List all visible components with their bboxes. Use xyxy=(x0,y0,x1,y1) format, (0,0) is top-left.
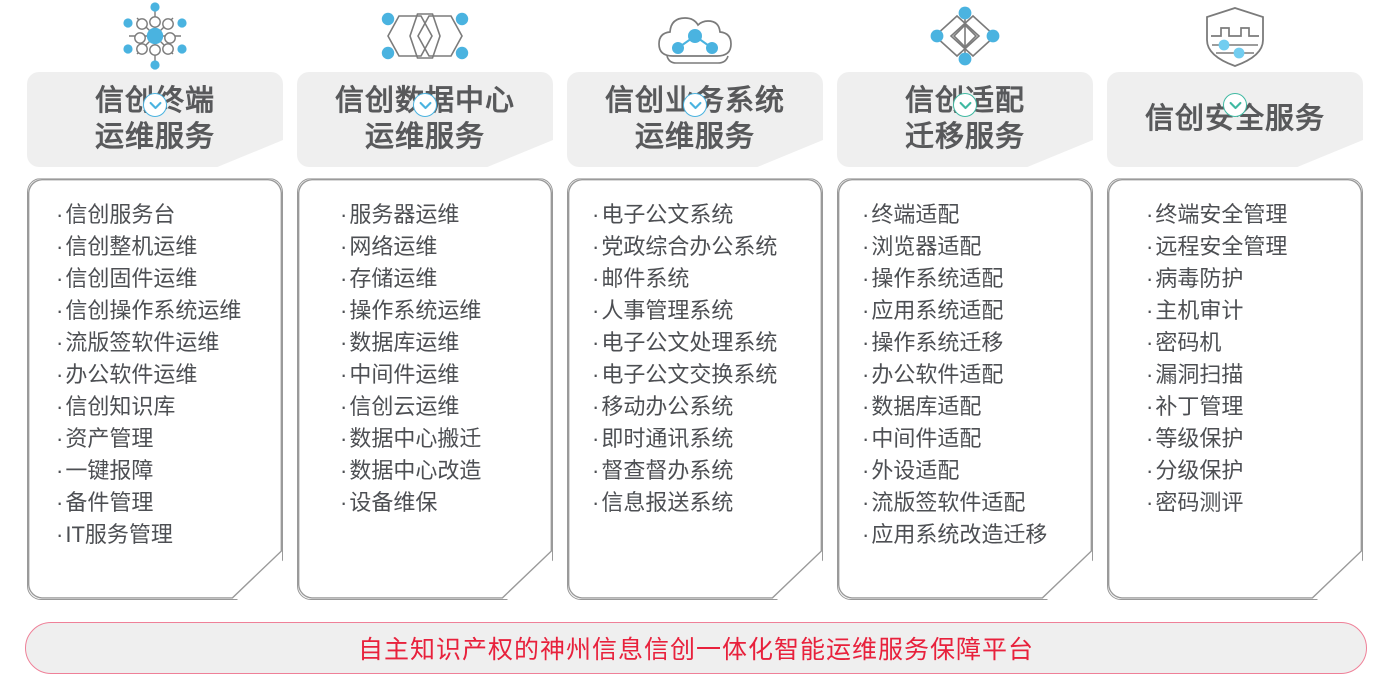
list-item-label: 人事管理系统 xyxy=(601,298,733,323)
list-item[interactable]: ·数据中心改造 xyxy=(336,455,481,487)
chevron-down-icon[interactable] xyxy=(953,93,977,117)
bullet-glyph: · xyxy=(862,522,869,547)
list-item-label: 党政综合办公系统 xyxy=(601,234,777,259)
list-item[interactable]: ·党政综合办公系统 xyxy=(588,231,777,263)
column-header-plate[interactable]: 信创业务系统 运维服务 xyxy=(567,72,823,167)
list-item-label: 应用系统改造迁移 xyxy=(871,522,1047,547)
list-item-label: 流版签软件适配 xyxy=(871,490,1025,515)
bullet-glyph: · xyxy=(340,362,347,387)
bullet-glyph: · xyxy=(56,330,63,355)
list-item-label: 邮件系统 xyxy=(601,266,689,291)
list-item[interactable]: ·漏洞扫描 xyxy=(1142,359,1243,391)
list-item-label: 终端适配 xyxy=(871,202,959,227)
list-item[interactable]: ·电子公文系统 xyxy=(588,199,733,231)
bullet-glyph: · xyxy=(56,298,63,323)
service-list-card: ·服务器运维·网络运维·存储运维·操作系统运维·数据库运维·中间件运维·信创云运… xyxy=(297,178,553,600)
bullet-glyph: · xyxy=(1146,298,1153,323)
list-item-label: 流版签软件运维 xyxy=(65,330,219,355)
bullet-glyph: · xyxy=(862,394,869,419)
bullet-glyph: · xyxy=(592,458,599,483)
list-item-label: 密码测评 xyxy=(1155,490,1243,515)
list-item[interactable]: ·应用系统改造迁移 xyxy=(858,519,1047,551)
list-item-label: 操作系统适配 xyxy=(871,266,1003,291)
bullet-glyph: · xyxy=(56,362,63,387)
bullet-glyph: · xyxy=(592,362,599,387)
list-item[interactable]: ·办公软件运维 xyxy=(52,359,197,391)
cloud-network-icon xyxy=(565,0,825,72)
service-list: ·终端安全管理·远程安全管理·病毒防护·主机审计·密码机·漏洞扫描·补丁管理·等… xyxy=(1108,195,1362,519)
list-item-label: 信创固件运维 xyxy=(65,266,197,291)
bullet-glyph: · xyxy=(592,330,599,355)
list-item[interactable]: ·中间件运维 xyxy=(336,359,459,391)
list-item[interactable]: ·主机审计 xyxy=(1142,295,1243,327)
list-item-label: 终端安全管理 xyxy=(1155,202,1287,227)
bullet-glyph: · xyxy=(340,394,347,419)
list-item[interactable]: ·数据库运维 xyxy=(336,327,459,359)
list-item-label: 即时通讯系统 xyxy=(601,426,733,451)
bullet-glyph: · xyxy=(862,234,869,259)
chevron-down-icon[interactable] xyxy=(683,93,707,117)
service-list: ·信创服务台·信创整机运维·信创固件运维·信创操作系统运维·流版签软件运维·办公… xyxy=(28,195,282,551)
list-item[interactable]: ·浏览器适配 xyxy=(858,231,981,263)
network-hub-icon xyxy=(25,0,285,72)
bullet-glyph: · xyxy=(862,490,869,515)
column-header-plate[interactable]: 信创数据中心 运维服务 xyxy=(297,72,553,167)
bullet-glyph: · xyxy=(862,266,869,291)
bullet-glyph: · xyxy=(56,458,63,483)
list-item[interactable]: ·办公软件适配 xyxy=(858,359,1003,391)
list-item-label: 电子公文系统 xyxy=(601,202,733,227)
list-item-label: 中间件适配 xyxy=(871,426,981,451)
list-item[interactable]: ·数据中心搬迁 xyxy=(336,423,481,455)
bullet-glyph: · xyxy=(1146,234,1153,259)
platform-banner: 自主知识产权的神州信息信创一体化智能运维服务保障平台 xyxy=(25,622,1367,674)
list-item-label: 电子公文处理系统 xyxy=(601,330,777,355)
bullet-glyph: · xyxy=(592,394,599,419)
list-item-label: 操作系统运维 xyxy=(349,298,481,323)
list-item[interactable]: ·信创固件运维 xyxy=(52,263,197,295)
bullet-glyph: · xyxy=(1146,394,1153,419)
service-column: 信创终端 运维服务·信创服务台·信创整机运维·信创固件运维·信创操作系统运维·流… xyxy=(25,0,285,600)
bullet-glyph: · xyxy=(592,490,599,515)
bullet-glyph: · xyxy=(592,426,599,451)
list-item-label: 资产管理 xyxy=(65,426,153,451)
list-item-label: 外设适配 xyxy=(871,458,959,483)
bullet-glyph: · xyxy=(862,426,869,451)
list-item-label: 病毒防护 xyxy=(1155,266,1243,291)
list-item[interactable]: ·终端安全管理 xyxy=(1142,199,1287,231)
bullet-glyph: · xyxy=(1146,490,1153,515)
list-item[interactable]: ·中间件适配 xyxy=(858,423,981,455)
list-item-label: 信创服务台 xyxy=(65,202,175,227)
list-item[interactable]: ·网络运维 xyxy=(336,231,437,263)
list-item-label: 办公软件适配 xyxy=(871,362,1003,387)
list-item-label: 应用系统适配 xyxy=(871,298,1003,323)
list-item-label: 服务器运维 xyxy=(349,202,459,227)
bullet-glyph: · xyxy=(592,202,599,227)
list-item[interactable]: ·应用系统适配 xyxy=(858,295,1003,327)
service-columns: 信创终端 运维服务·信创服务台·信创整机运维·信创固件运维·信创操作系统运维·流… xyxy=(0,0,1392,600)
list-item-label: 中间件运维 xyxy=(349,362,459,387)
service-list: ·电子公文系统·党政综合办公系统·邮件系统·人事管理系统·电子公文处理系统·电子… xyxy=(568,195,822,519)
list-item[interactable]: ·操作系统迁移 xyxy=(858,327,1003,359)
list-item-label: 电子公文交换系统 xyxy=(601,362,777,387)
list-item[interactable]: ·信创操作系统运维 xyxy=(52,295,241,327)
infographic-canvas: 信创终端 运维服务·信创服务台·信创整机运维·信创固件运维·信创操作系统运维·流… xyxy=(0,0,1392,692)
list-item-label: 补丁管理 xyxy=(1155,394,1243,419)
column-header-plate[interactable]: 信创安全服务 xyxy=(1107,72,1363,167)
list-item[interactable]: ·IT服务管理 xyxy=(52,519,173,551)
list-item[interactable]: ·密码机 xyxy=(1142,327,1221,359)
list-item[interactable]: ·人事管理系统 xyxy=(588,295,733,327)
chevron-down-icon[interactable] xyxy=(413,93,437,117)
list-item[interactable]: ·信息报送系统 xyxy=(588,487,733,519)
bullet-glyph: · xyxy=(56,490,63,515)
list-item[interactable]: ·备件管理 xyxy=(52,487,153,519)
bullet-glyph: · xyxy=(340,426,347,451)
list-item-label: 一键报障 xyxy=(65,458,153,483)
list-item[interactable]: ·信创知识库 xyxy=(52,391,175,423)
service-list: ·终端适配·浏览器适配·操作系统适配·应用系统适配·操作系统迁移·办公软件适配·… xyxy=(838,195,1092,551)
column-header-plate[interactable]: 信创终端 运维服务 xyxy=(27,72,283,167)
service-list-card: ·电子公文系统·党政综合办公系统·邮件系统·人事管理系统·电子公文处理系统·电子… xyxy=(567,178,823,600)
service-column: 信创适配 迁移服务·终端适配·浏览器适配·操作系统适配·应用系统适配·操作系统迁… xyxy=(835,0,1095,600)
list-item[interactable]: ·操作系统运维 xyxy=(336,295,481,327)
service-list-card: ·终端适配·浏览器适配·操作系统适配·应用系统适配·操作系统迁移·办公软件适配·… xyxy=(837,178,1093,600)
list-item[interactable]: ·外设适配 xyxy=(858,455,959,487)
list-item[interactable]: ·远程安全管理 xyxy=(1142,231,1287,263)
bullet-glyph: · xyxy=(56,266,63,291)
list-item-label: 办公软件运维 xyxy=(65,362,197,387)
bullet-glyph: · xyxy=(340,266,347,291)
bullet-glyph: · xyxy=(56,426,63,451)
bullet-glyph: · xyxy=(56,522,63,547)
list-item-label: 备件管理 xyxy=(65,490,153,515)
bullet-glyph: · xyxy=(862,330,869,355)
list-item[interactable]: ·移动办公系统 xyxy=(588,391,733,423)
service-list-card: ·信创服务台·信创整机运维·信创固件运维·信创操作系统运维·流版签软件运维·办公… xyxy=(27,178,283,600)
list-item-label: 信创知识库 xyxy=(65,394,175,419)
bullet-glyph: · xyxy=(592,298,599,323)
list-item[interactable]: ·服务器运维 xyxy=(336,199,459,231)
bullet-glyph: · xyxy=(862,458,869,483)
service-list-card: ·终端安全管理·远程安全管理·病毒防护·主机审计·密码机·漏洞扫描·补丁管理·等… xyxy=(1107,178,1363,600)
overlapping-diamonds-icon xyxy=(835,0,1095,72)
list-item-label: 数据中心改造 xyxy=(349,458,481,483)
list-item[interactable]: ·补丁管理 xyxy=(1142,391,1243,423)
list-item[interactable]: ·终端适配 xyxy=(858,199,959,231)
bullet-glyph: · xyxy=(340,490,347,515)
bullet-glyph: · xyxy=(1146,266,1153,291)
list-item[interactable]: ·密码测评 xyxy=(1142,487,1243,519)
bullet-glyph: · xyxy=(340,458,347,483)
list-item-label: 移动办公系统 xyxy=(601,394,733,419)
bullet-glyph: · xyxy=(340,298,347,323)
list-item[interactable]: ·等级保护 xyxy=(1142,423,1243,455)
list-item[interactable]: ·电子公文交换系统 xyxy=(588,359,777,391)
service-column: 信创安全服务·终端安全管理·远程安全管理·病毒防护·主机审计·密码机·漏洞扫描·… xyxy=(1105,0,1365,600)
list-item[interactable]: ·操作系统适配 xyxy=(858,263,1003,295)
list-item[interactable]: ·即时通讯系统 xyxy=(588,423,733,455)
bullet-glyph: · xyxy=(1146,202,1153,227)
list-item-label: IT服务管理 xyxy=(65,522,173,547)
list-item-label: 数据中心搬迁 xyxy=(349,426,481,451)
list-item[interactable]: ·设备维保 xyxy=(336,487,437,519)
list-item-label: 浏览器适配 xyxy=(871,234,981,259)
bullet-glyph: · xyxy=(592,234,599,259)
list-item-label: 设备维保 xyxy=(349,490,437,515)
list-item-label: 密码机 xyxy=(1155,330,1221,355)
service-list: ·服务器运维·网络运维·存储运维·操作系统运维·数据库运维·中间件运维·信创云运… xyxy=(298,195,552,519)
bullet-glyph: · xyxy=(340,202,347,227)
bullet-glyph: · xyxy=(56,394,63,419)
list-item-label: 远程安全管理 xyxy=(1155,234,1287,259)
list-item-label: 网络运维 xyxy=(349,234,437,259)
list-item-label: 督查督办系统 xyxy=(601,458,733,483)
list-item[interactable]: ·信创云运维 xyxy=(336,391,459,423)
interlocking-hexagons-icon xyxy=(295,0,555,72)
list-item-label: 存储运维 xyxy=(349,266,437,291)
list-item-label: 信息报送系统 xyxy=(601,490,733,515)
shield-pulse-icon xyxy=(1105,0,1365,72)
list-item[interactable]: ·流版签软件适配 xyxy=(858,487,1025,519)
bullet-glyph: · xyxy=(340,234,347,259)
column-header-plate[interactable]: 信创适配 迁移服务 xyxy=(837,72,1093,167)
chevron-down-icon[interactable] xyxy=(143,93,167,117)
list-item[interactable]: ·流版签软件运维 xyxy=(52,327,219,359)
bullet-glyph: · xyxy=(56,202,63,227)
list-item[interactable]: ·病毒防护 xyxy=(1142,263,1243,295)
bullet-glyph: · xyxy=(862,202,869,227)
list-item[interactable]: ·信创整机运维 xyxy=(52,231,197,263)
bullet-glyph: · xyxy=(1146,426,1153,451)
bullet-glyph: · xyxy=(1146,362,1153,387)
list-item[interactable]: ·存储运维 xyxy=(336,263,437,295)
service-column: 信创业务系统 运维服务·电子公文系统·党政综合办公系统·邮件系统·人事管理系统·… xyxy=(565,0,825,600)
bullet-glyph: · xyxy=(862,362,869,387)
list-item[interactable]: ·一键报障 xyxy=(52,455,153,487)
list-item[interactable]: ·电子公文处理系统 xyxy=(588,327,777,359)
list-item-label: 信创操作系统运维 xyxy=(65,298,241,323)
list-item[interactable]: ·资产管理 xyxy=(52,423,153,455)
list-item-label: 信创云运维 xyxy=(349,394,459,419)
platform-banner-label: 自主知识产权的神州信息信创一体化智能运维服务保障平台 xyxy=(358,630,1034,666)
list-item-label: 操作系统迁移 xyxy=(871,330,1003,355)
list-item[interactable]: ·分级保护 xyxy=(1142,455,1243,487)
list-item-label: 主机审计 xyxy=(1155,298,1243,323)
list-item[interactable]: ·督查督办系统 xyxy=(588,455,733,487)
list-item-label: 数据库运维 xyxy=(349,330,459,355)
bullet-glyph: · xyxy=(1146,330,1153,355)
list-item-label: 数据库适配 xyxy=(871,394,981,419)
list-item[interactable]: ·邮件系统 xyxy=(588,263,689,295)
service-column: 信创数据中心 运维服务·服务器运维·网络运维·存储运维·操作系统运维·数据库运维… xyxy=(295,0,555,600)
list-item-label: 信创整机运维 xyxy=(65,234,197,259)
list-item[interactable]: ·数据库适配 xyxy=(858,391,981,423)
list-item[interactable]: ·信创服务台 xyxy=(52,199,175,231)
bullet-glyph: · xyxy=(56,234,63,259)
list-item-label: 漏洞扫描 xyxy=(1155,362,1243,387)
bullet-glyph: · xyxy=(592,266,599,291)
list-item-label: 等级保护 xyxy=(1155,426,1243,451)
bullet-glyph: · xyxy=(1146,458,1153,483)
bullet-glyph: · xyxy=(340,330,347,355)
bullet-glyph: · xyxy=(862,298,869,323)
list-item-label: 分级保护 xyxy=(1155,458,1243,483)
chevron-down-icon[interactable] xyxy=(1223,93,1247,117)
